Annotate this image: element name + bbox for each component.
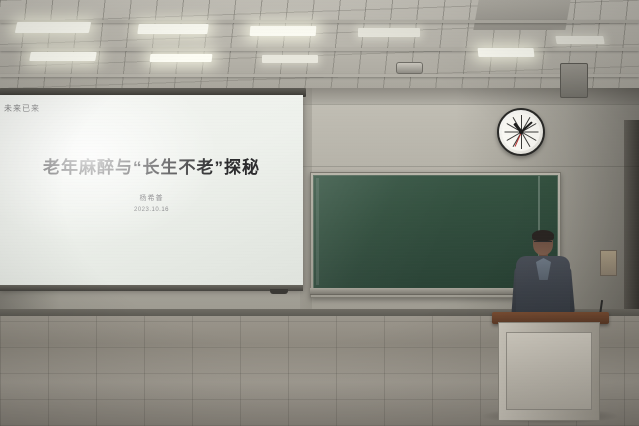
ceiling-light <box>150 54 213 62</box>
glasses-icon <box>534 241 552 246</box>
lecture-hall-photo: 未来已来 老年麻醉与“长生不老”探秘 杨希普 2023.10.16 <box>0 0 639 426</box>
slide-tag: 未来已来 <box>4 103 40 114</box>
door-edge <box>624 120 639 315</box>
slide-author: 杨希普 <box>0 193 303 203</box>
ceiling-air-duct <box>473 0 570 30</box>
ceiling-light <box>250 26 317 36</box>
ceiling-beam <box>0 74 639 77</box>
ceiling-light <box>29 52 97 61</box>
ceiling-beam <box>0 48 639 51</box>
wall-clock <box>497 108 545 156</box>
presenter-hair <box>532 230 554 241</box>
wall-utility-box <box>600 250 617 276</box>
ceiling-light <box>555 36 604 44</box>
projection-screen-pull-tab <box>270 289 288 294</box>
ceiling-beam <box>0 20 639 23</box>
projection-screen: 未来已来 老年麻醉与“长生不老”探秘 杨希普 2023.10.16 <box>0 95 303 289</box>
clock-face <box>502 113 540 151</box>
lectern-front-panel <box>506 332 592 410</box>
ceiling-light <box>15 22 91 33</box>
ceiling-light <box>137 24 208 34</box>
slide-date: 2023.10.16 <box>0 207 303 213</box>
clock-center-pin <box>519 130 523 134</box>
chalkboard-slider-rail <box>316 178 319 285</box>
ceiling-light <box>478 48 535 57</box>
ceiling-light <box>262 55 318 63</box>
wall-speaker <box>560 63 588 98</box>
slide-title: 老年麻醉与“长生不老”探秘 <box>0 153 303 178</box>
ceiling-light <box>358 28 420 37</box>
ceiling-projector <box>396 62 423 74</box>
projection-screen-bottom-bar <box>0 285 303 291</box>
